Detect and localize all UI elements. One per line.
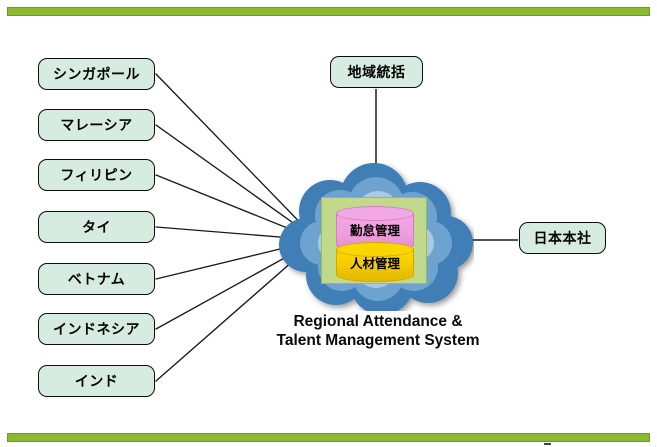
- top-green-rule: [7, 7, 650, 16]
- talent-cylinder-top: [336, 242, 414, 257]
- attendance-cylinder-top: [336, 206, 414, 221]
- caption-line-2: Talent Management System: [258, 331, 498, 350]
- caption-line-1: Regional Attendance &: [258, 312, 498, 331]
- node-japan-headquarters-label: 日本本社: [534, 228, 592, 248]
- node-malaysia-label: マレーシア: [60, 115, 132, 135]
- node-regional-headquarters-label: 地域統括: [348, 62, 406, 82]
- node-regional-headquarters[interactable]: 地域統括: [330, 56, 423, 88]
- corner-mark: [544, 443, 551, 445]
- slide-canvas: 勤怠管理 人材管理 Regional Attendance & Talent M…: [0, 0, 657, 447]
- node-singapore-label: シンガポール: [53, 64, 140, 84]
- central-system-container: 勤怠管理 人材管理: [321, 197, 427, 284]
- node-japan-headquarters[interactable]: 日本本社: [519, 222, 606, 254]
- node-malaysia[interactable]: マレーシア: [38, 109, 155, 141]
- system-caption: Regional Attendance & Talent Management …: [258, 312, 498, 350]
- node-india[interactable]: インド: [38, 365, 155, 397]
- attendance-database-label: 勤怠管理: [350, 220, 400, 239]
- node-vietnam-label: ベトナム: [68, 269, 126, 289]
- node-thailand-label: タイ: [82, 217, 111, 237]
- node-philippines-label: フィリピン: [60, 165, 132, 185]
- node-indonesia[interactable]: インドネシア: [38, 313, 155, 345]
- node-philippines[interactable]: フィリピン: [38, 159, 155, 191]
- node-india-label: インド: [75, 371, 119, 391]
- node-singapore[interactable]: シンガポール: [38, 58, 155, 90]
- node-indonesia-label: インドネシア: [53, 319, 140, 339]
- node-vietnam[interactable]: ベトナム: [38, 263, 155, 295]
- bottom-green-rule: [7, 433, 650, 442]
- node-thailand[interactable]: タイ: [38, 211, 155, 243]
